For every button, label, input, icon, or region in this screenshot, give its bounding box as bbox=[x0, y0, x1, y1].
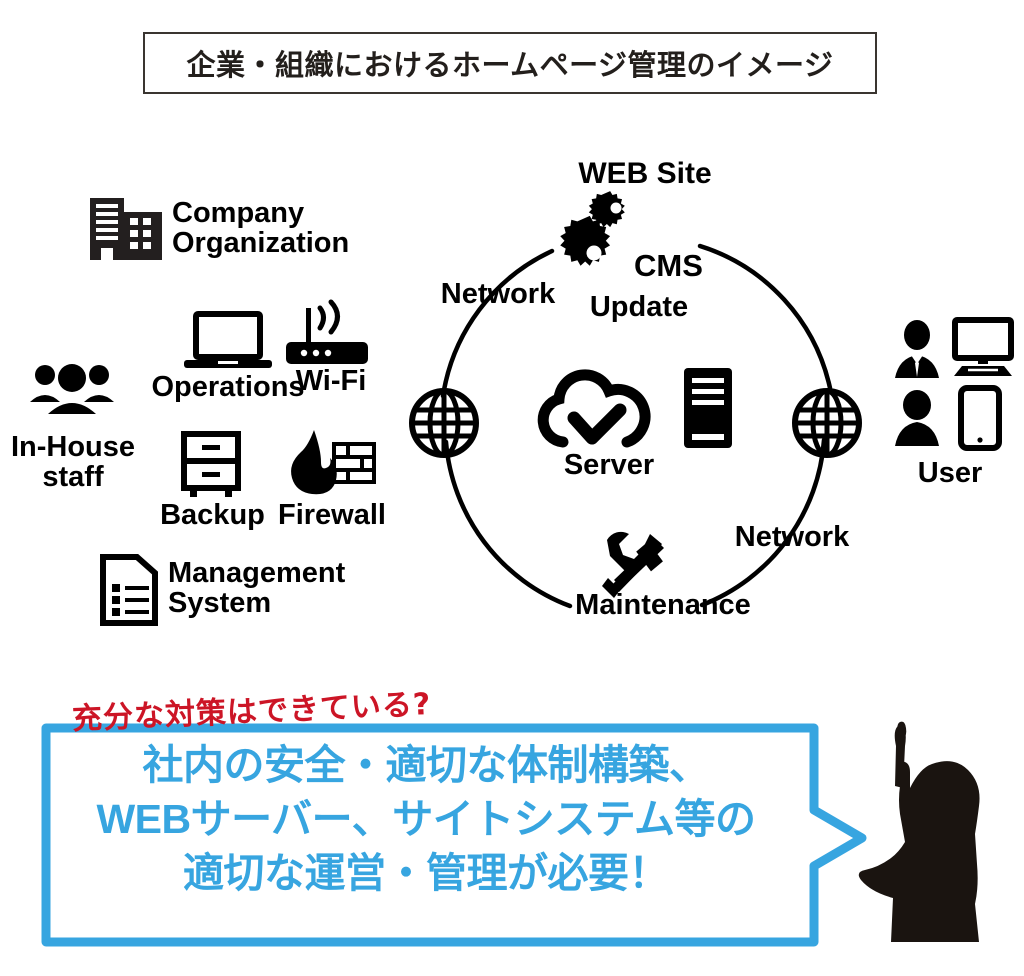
page-title: 企業・組織におけるホームページ管理のイメージ bbox=[187, 42, 834, 84]
label-in-house-staff: In-House staff bbox=[0, 432, 146, 492]
person-pointing-up-silhouette bbox=[840, 718, 1024, 976]
label-network-left: Network bbox=[428, 279, 568, 309]
node-user-desktop bbox=[952, 318, 1014, 380]
label-maintenance: Maintenance bbox=[548, 590, 778, 620]
page-title-box: 企業・組織におけるホームページ管理のイメージ bbox=[143, 32, 877, 94]
node-management-system bbox=[100, 554, 158, 626]
node-user-smartphone bbox=[958, 386, 1002, 450]
node-network-globe-right bbox=[791, 387, 863, 459]
callout-line-1: 社内の安全・適切な体制構築、 bbox=[38, 738, 814, 793]
flame-brickwall-icon bbox=[286, 428, 376, 498]
node-operations bbox=[182, 312, 274, 372]
desktop-monitor-icon bbox=[952, 318, 1014, 380]
node-server-cloud bbox=[541, 370, 649, 452]
document-list-icon bbox=[100, 554, 158, 626]
callout-line-2: WEBサーバー、サイトシステム等の bbox=[38, 792, 814, 847]
globe-icon bbox=[408, 387, 480, 459]
node-firewall bbox=[286, 428, 376, 498]
smartphone-icon bbox=[958, 386, 1002, 450]
node-network-globe-left bbox=[408, 387, 480, 459]
infographic-canvas: 企業・組織におけるホームページ管理のイメージ Company Orga bbox=[0, 0, 1024, 976]
label-company-organization: Company Organization bbox=[172, 198, 349, 258]
label-update: Update bbox=[574, 292, 704, 322]
laptop-icon bbox=[182, 312, 274, 372]
node-user-business-person bbox=[893, 320, 941, 380]
node-in-house-staff bbox=[28, 362, 116, 418]
label-firewall: Firewall bbox=[272, 500, 392, 530]
node-server-tower bbox=[682, 366, 734, 450]
label-web-site: WEB Site bbox=[540, 158, 750, 189]
label-wifi: Wi-Fi bbox=[276, 366, 386, 396]
label-cms: CMS bbox=[634, 250, 703, 282]
node-wifi bbox=[284, 300, 374, 370]
callout-line-3: 適切な運営・管理が必要！ bbox=[38, 846, 814, 901]
office-building-icon bbox=[88, 196, 164, 262]
label-management-system: Management System bbox=[168, 558, 345, 618]
server-tower-icon bbox=[682, 366, 734, 450]
label-backup: Backup bbox=[155, 500, 270, 530]
callout-bubble: 社内の安全・適切な体制構築、 WEBサーバー、サイトシステム等の 適切な運営・管… bbox=[38, 716, 814, 942]
server-drawer-icon bbox=[180, 432, 242, 500]
label-network-right: Network bbox=[722, 522, 862, 552]
label-user: User bbox=[890, 458, 1010, 488]
business-person-icon bbox=[893, 320, 941, 380]
label-server: Server bbox=[544, 450, 674, 480]
cloud-check-icon bbox=[541, 370, 649, 452]
people-group-icon bbox=[28, 362, 116, 418]
node-user-person bbox=[893, 390, 941, 448]
node-backup bbox=[180, 432, 242, 500]
node-company-organization bbox=[88, 196, 164, 262]
globe-icon bbox=[791, 387, 863, 459]
person-icon bbox=[893, 390, 941, 448]
wifi-router-icon bbox=[284, 300, 374, 370]
